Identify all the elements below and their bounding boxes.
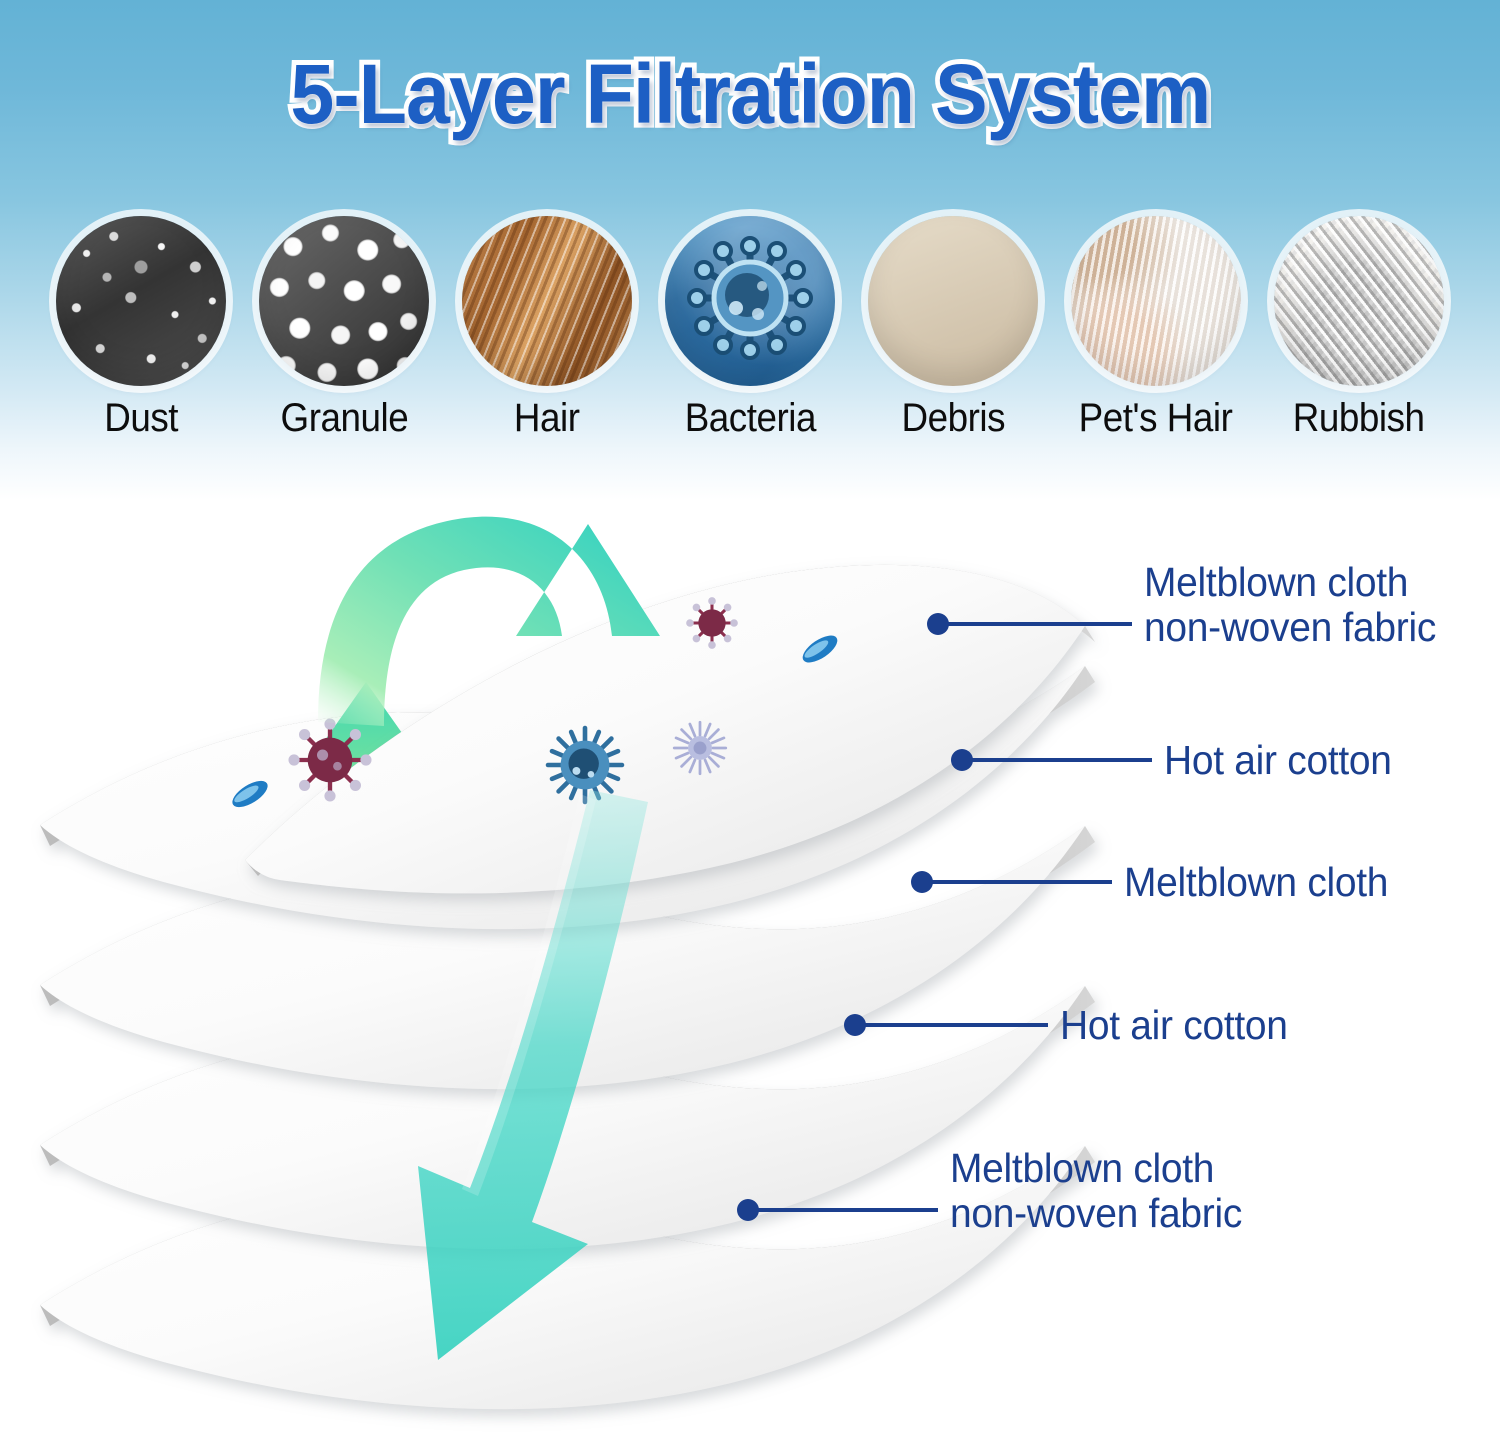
pet-hair-texture-circle bbox=[1071, 216, 1241, 386]
callout-label-layer-3: Meltblown cloth bbox=[1124, 860, 1388, 905]
contaminant-row: Dust Granule Hair bbox=[48, 216, 1452, 446]
rubbish-texture-circle bbox=[1274, 216, 1444, 386]
infographic-canvas: 5-Layer Filtration System Dust Granule H… bbox=[0, 0, 1500, 1433]
page-title: 5-Layer Filtration System bbox=[290, 46, 1210, 143]
contaminant-label-dust: Dust bbox=[104, 396, 178, 441]
contaminant-item-rubbish: Rubbish bbox=[1266, 216, 1452, 441]
bacteria-texture-circle bbox=[665, 216, 835, 386]
contaminant-item-bacteria: Bacteria bbox=[657, 216, 843, 441]
granule-texture-circle bbox=[259, 216, 429, 386]
callout-label-layer-1: Meltblown cloth non-woven fabric bbox=[1144, 560, 1436, 650]
contaminant-item-debris: Debris bbox=[860, 216, 1046, 441]
page-title-wrapper: 5-Layer Filtration System bbox=[0, 46, 1500, 143]
hair-texture-circle bbox=[462, 216, 632, 386]
virus-red-particle-small-icon bbox=[686, 597, 738, 649]
virus-blue-particle-icon bbox=[548, 728, 622, 802]
virus-red-particle-icon bbox=[288, 718, 371, 801]
layer-stack-diagram: Meltblown cloth non-woven fabric Hot air… bbox=[0, 460, 1500, 1433]
callout-label-layer-2: Hot air cotton bbox=[1164, 738, 1392, 783]
contaminant-label-granule: Granule bbox=[280, 396, 408, 441]
callout-label-layer-5: Meltblown cloth non-woven fabric bbox=[950, 1146, 1242, 1236]
contaminant-label-hair: Hair bbox=[514, 396, 580, 441]
contaminant-item-hair: Hair bbox=[454, 216, 640, 441]
contaminant-label-bacteria: Bacteria bbox=[684, 396, 815, 441]
debris-texture-circle bbox=[868, 216, 1038, 386]
virus-pale-particle-icon bbox=[674, 722, 726, 774]
dust-texture-circle bbox=[56, 216, 226, 386]
contaminant-item-dust: Dust bbox=[48, 216, 234, 441]
contaminant-label-rubbish: Rubbish bbox=[1293, 396, 1425, 441]
contaminant-label-pets-hair: Pet's Hair bbox=[1079, 396, 1233, 441]
contaminant-item-pets-hair: Pet's Hair bbox=[1063, 216, 1249, 441]
contaminant-item-granule: Granule bbox=[251, 216, 437, 441]
callout-label-layer-4: Hot air cotton bbox=[1060, 1003, 1288, 1048]
contaminant-label-debris: Debris bbox=[901, 396, 1005, 441]
virus-icon bbox=[665, 216, 835, 386]
